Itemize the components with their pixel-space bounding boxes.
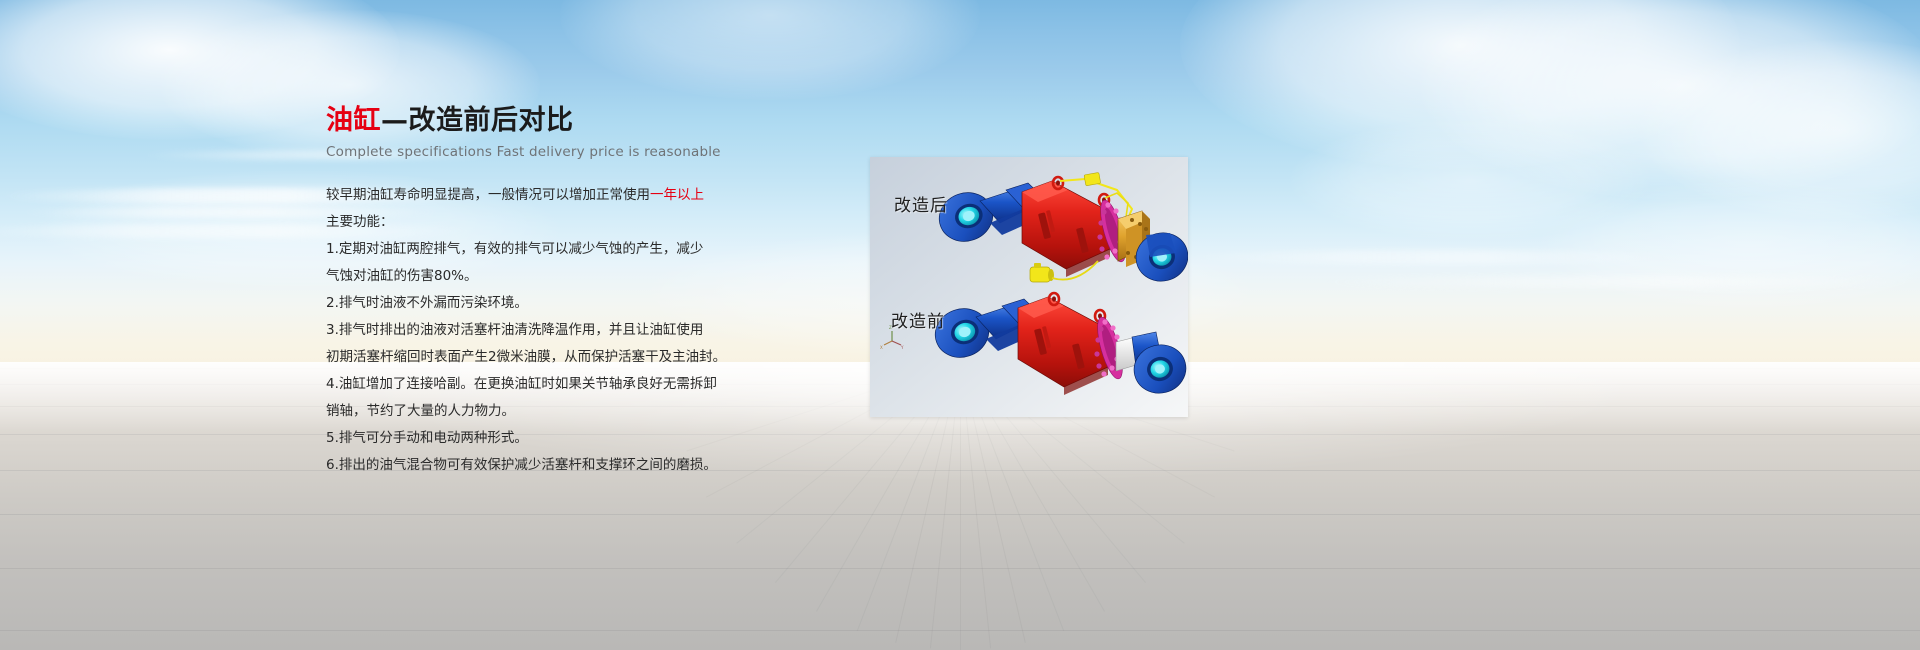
cloud-streak (1320, 276, 1920, 288)
banner-copy: 油缸—改造前后对比 Complete specifications Fast d… (326, 104, 756, 479)
feature-line: 较早期油缸寿命明显提高，一般情况可以增加正常使用一年以上 (326, 182, 756, 209)
feature-line: 4.油缸增加了连接哈副。在更换油缸时如果关节轴承良好无需拆卸 (326, 371, 756, 398)
feature-line: 2.排气时油液不外漏而污染环境。 (326, 290, 756, 317)
feature-line: 1.定期对油缸两腔排气，有效的排气可以减少气蚀的产生，减少 (326, 236, 756, 263)
hero-banner: 油缸—改造前后对比 Complete specifications Fast d… (0, 0, 1920, 650)
cloud-shape (1290, 120, 1650, 240)
cloud-shape (1420, 0, 1920, 200)
product-comparison-image: Z X Y 改造后 改造前 (870, 157, 1188, 417)
cloud-shape (1180, 0, 1740, 170)
cloud-shape (1640, 40, 1920, 220)
feature-line: 主要功能： (326, 209, 756, 236)
label-after-modification: 改造后 (894, 191, 948, 216)
svg-text:Y: Y (900, 345, 904, 350)
feature-line-text: 较早期油缸寿命明显提高，一般情况可以增加正常使用 (326, 187, 650, 203)
page-title-rest: —改造前后对比 (381, 105, 574, 136)
feature-line: 3.排气时排出的油液对活塞杆油清洗降温作用，并且让油缸使用 (326, 317, 756, 344)
cloud-streak (1180, 250, 1680, 264)
svg-text:X: X (880, 345, 883, 350)
cloud-shape (1540, 180, 1920, 310)
feature-line: 销轴，节约了大量的人力物力。 (326, 398, 756, 425)
page-title-highlight: 油缸 (326, 105, 381, 136)
feature-line: 初期活塞杆缩回时表面产生2微米油膜，从而保护活塞干及主油封。 (326, 344, 756, 371)
feature-line-highlight: 一年以上 (650, 187, 704, 203)
feature-list: 较早期油缸寿命明显提高，一般情况可以增加正常使用一年以上 主要功能： 1.定期对… (326, 182, 756, 479)
feature-line: 气蚀对油缸的伤害80%。 (326, 263, 756, 290)
page-subtitle: Complete specifications Fast delivery pr… (326, 144, 756, 160)
label-before-modification: 改造前 (891, 307, 945, 332)
feature-line: 5.排气可分手动和电动两种形式。 (326, 425, 756, 452)
cloud-shape (560, 0, 980, 100)
feature-line: 6.排出的油气混合物可有效保护减少活塞杆和支撑环之间的磨损。 (326, 452, 756, 479)
page-title: 油缸—改造前后对比 (326, 104, 756, 138)
